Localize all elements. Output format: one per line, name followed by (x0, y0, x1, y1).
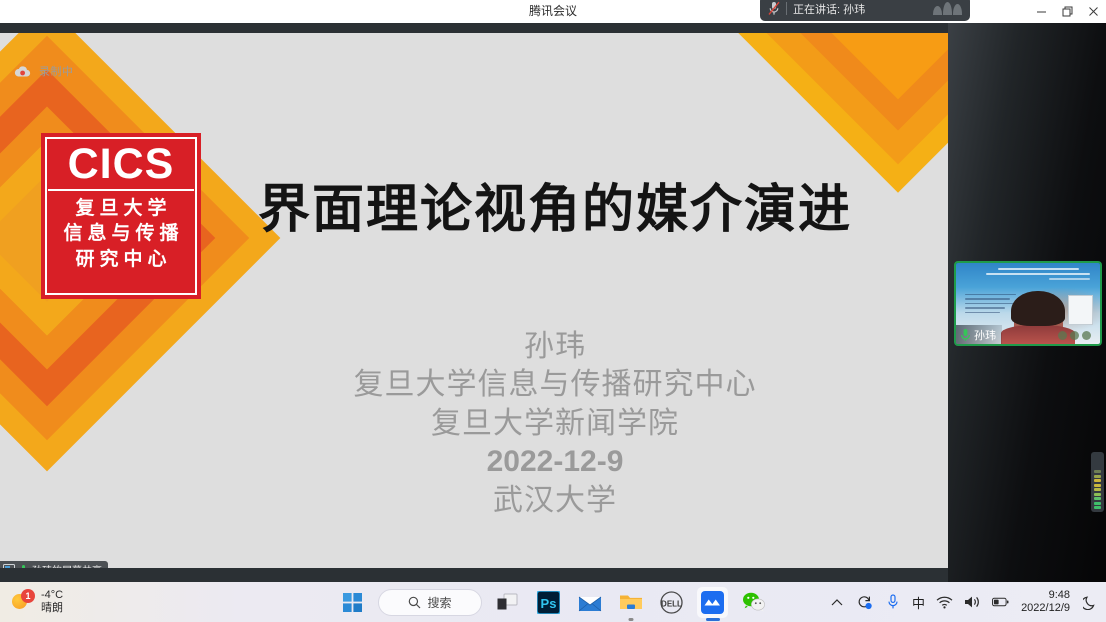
wifi-icon[interactable] (936, 592, 953, 612)
subtitle-line-school: 复旦大学新闻学院 (215, 405, 895, 443)
sync-icon[interactable] (856, 592, 873, 612)
svg-text:Ps: Ps (541, 596, 557, 611)
monitor-icon (3, 564, 15, 568)
active-speaker-badge: 正在讲话: 孙玮 (760, 0, 970, 21)
task-view-icon[interactable] (492, 587, 523, 618)
cloud-record-icon (14, 65, 31, 78)
slide-subtitle-block: 孙玮 复旦大学信息与传播研究中心 复旦大学新闻学院 2022-12-9 武汉大学 (215, 328, 895, 520)
screen-root: 腾讯会议 正在讲话: 孙玮 (0, 0, 1106, 622)
moon-icon[interactable] (1081, 592, 1098, 612)
share-letterbox-top (0, 23, 948, 33)
screen-share-status-chip: 孙玮的屏幕共享 (0, 561, 108, 568)
active-speaker-label: 正在讲话: 孙玮 (793, 1, 927, 17)
screen-share-label: 孙玮的屏幕共享 (32, 562, 102, 568)
wechat-icon[interactable] (738, 587, 769, 618)
cics-logo: CICS 复旦大学 信息与传播 研究中心 (41, 133, 201, 299)
window-controls (1028, 0, 1106, 23)
tray-time: 9:48 (1049, 589, 1070, 602)
window-title-bar: 腾讯会议 正在讲话: 孙玮 (0, 0, 1106, 23)
thumb-seal-icons (1058, 331, 1091, 340)
decoration-right-chevron (728, 33, 948, 193)
system-tray: 中 (828, 582, 1098, 622)
battery-icon[interactable] (992, 592, 1009, 612)
cics-line-2: 信息与传播 (58, 222, 183, 244)
volume-icon[interactable] (964, 592, 981, 612)
speaking-waveform-icon (933, 2, 962, 15)
start-button[interactable] (337, 587, 368, 618)
subtitle-line-center: 复旦大学信息与传播研究中心 (215, 366, 895, 404)
cics-acronym-row: CICS (48, 139, 194, 191)
dell-icon[interactable]: DELL (656, 587, 687, 618)
thumb-person-hair (1011, 291, 1066, 327)
file-explorer-icon[interactable] (615, 587, 646, 618)
chevron-up-icon[interactable] (828, 592, 845, 612)
microphone-icon[interactable] (884, 592, 901, 612)
windows-taskbar: 1 -4°C 晴朗 (0, 582, 1106, 622)
cics-line-1: 复旦大学 (70, 197, 171, 219)
meeting-window-body: 录制中 CICS 复旦大学 信息与传播 研究中心 界面理论视角的媒介演进 孙玮 … (0, 23, 1106, 582)
tray-date: 2022/12/9 (1021, 602, 1070, 615)
tencent-meeting-icon[interactable] (697, 587, 728, 618)
participant-name: 孙玮 (974, 327, 996, 343)
slide-title: 界面理论视角的媒介演进 (215, 181, 895, 241)
participant-name-bar: 孙玮 (956, 325, 1002, 344)
svg-text:DELL: DELL (661, 599, 682, 608)
subtitle-line-author: 孙玮 (215, 328, 895, 366)
mail-icon[interactable] (574, 587, 605, 618)
photoshop-icon[interactable]: Ps (533, 587, 564, 618)
cics-line-3: 研究中心 (70, 248, 171, 270)
share-letterbox-bottom (0, 568, 948, 582)
cics-chinese-name: 复旦大学 信息与传播 研究中心 (58, 197, 183, 270)
mic-on-icon (960, 328, 971, 342)
search-placeholder: 搜索 (427, 594, 451, 611)
clock-widget[interactable]: 9:48 2022/12/9 (1021, 589, 1070, 615)
search-icon (408, 596, 421, 609)
mic-on-icon (19, 564, 28, 569)
mic-muted-icon (768, 1, 780, 16)
close-button[interactable] (1080, 0, 1106, 23)
thumb-document (1068, 295, 1092, 324)
shared-screen-slide[interactable]: 录制中 CICS 复旦大学 信息与传播 研究中心 界面理论视角的媒介演进 孙玮 … (0, 33, 948, 568)
recording-indicator: 录制中 (14, 63, 74, 79)
thumb-slide-header (982, 268, 1094, 289)
restore-button[interactable] (1054, 0, 1080, 23)
subtitle-line-venue: 武汉大学 (215, 482, 895, 520)
recording-label: 录制中 (39, 63, 74, 79)
badge-divider (786, 2, 787, 15)
audio-level-meter (1091, 452, 1104, 512)
minimize-button[interactable] (1028, 0, 1054, 23)
cics-acronym: CICS (68, 143, 175, 186)
participant-video-tile[interactable]: 孙玮 (954, 261, 1102, 346)
ime-indicator[interactable]: 中 (912, 593, 925, 612)
taskbar-search-box[interactable]: 搜索 (378, 589, 482, 616)
subtitle-line-date: 2022-12-9 (215, 443, 895, 481)
